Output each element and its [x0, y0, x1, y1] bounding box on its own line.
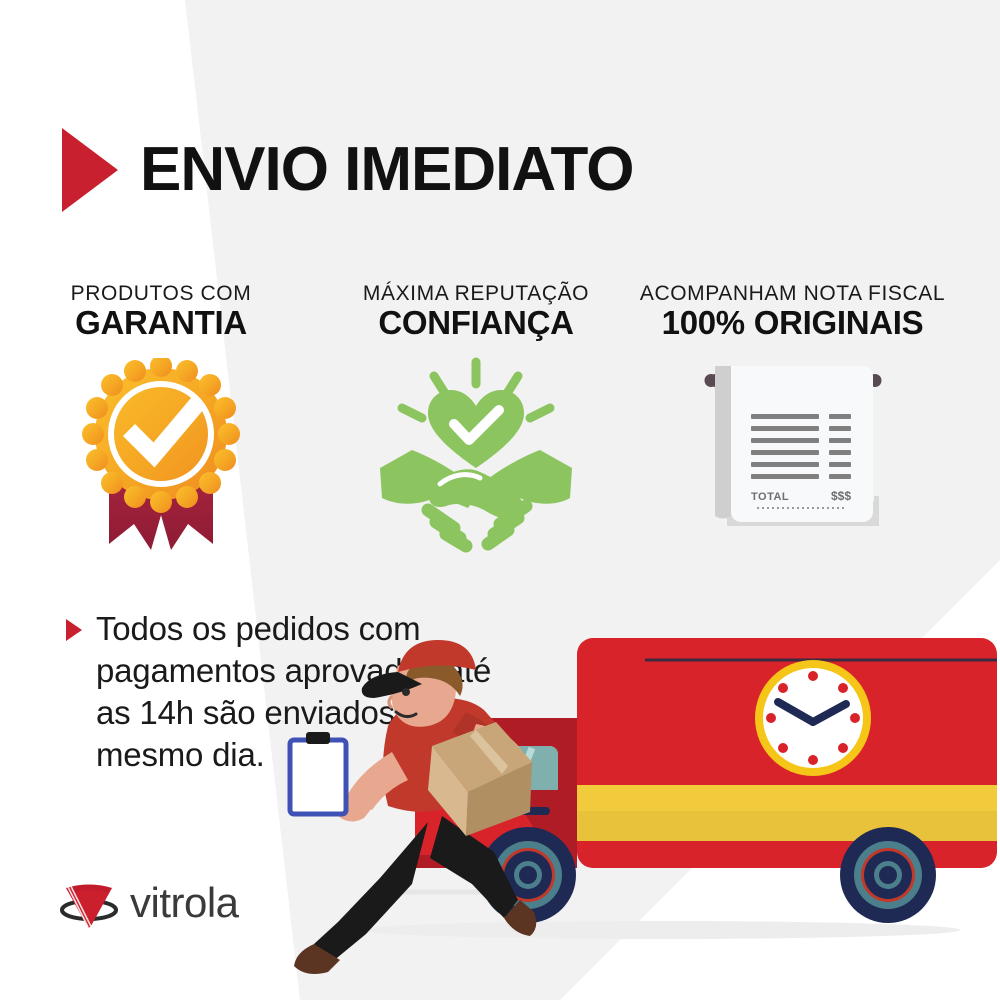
page-title: ENVIO IMEDIATO: [140, 139, 634, 201]
feature-title: 100% ORIGINAIS: [620, 305, 965, 342]
poster-canvas: ENVIO IMEDIATO PRODUTOS COM GARANTIA: [0, 0, 1000, 1000]
feature-garantia: PRODUTOS COM GARANTIA: [36, 282, 286, 558]
receipt-icon: TOTAL $$$: [693, 350, 893, 550]
receipt-total-value: $$$: [830, 489, 850, 503]
triangle-right-icon: [62, 128, 118, 212]
headline-row: ENVIO IMEDIATO: [62, 128, 634, 212]
brand-name: vitrola: [130, 882, 239, 924]
feature-subtitle: PRODUTOS COM: [36, 282, 286, 305]
triangle-right-icon: [66, 619, 82, 641]
feature-subtitle: MÁXIMA REPUTAÇÃO: [345, 282, 607, 305]
feature-confianca: MÁXIMA REPUTAÇÃO CONFIANÇA: [345, 282, 607, 556]
clipboard-icon: [290, 732, 346, 814]
vitrola-funnel-icon: [58, 872, 120, 934]
receipt-total-label: TOTAL: [751, 491, 789, 503]
feature-subtitle: ACOMPANHAM NOTA FISCAL: [620, 282, 965, 305]
award-badge-icon: [61, 358, 261, 558]
features-row: PRODUTOS COM GARANTIA: [0, 282, 1000, 582]
feature-title: GARANTIA: [36, 305, 286, 342]
delivery-illustration: [280, 600, 1000, 1000]
brand-logo[interactable]: vitrola: [58, 872, 239, 934]
clock-icon: [755, 660, 871, 776]
feature-title: CONFIANÇA: [345, 305, 607, 342]
feature-originais: ACOMPANHAM NOTA FISCAL 100% ORIGINAIS: [620, 282, 965, 550]
handshake-heart-icon: [376, 356, 576, 556]
wheel-rear: [840, 827, 936, 923]
